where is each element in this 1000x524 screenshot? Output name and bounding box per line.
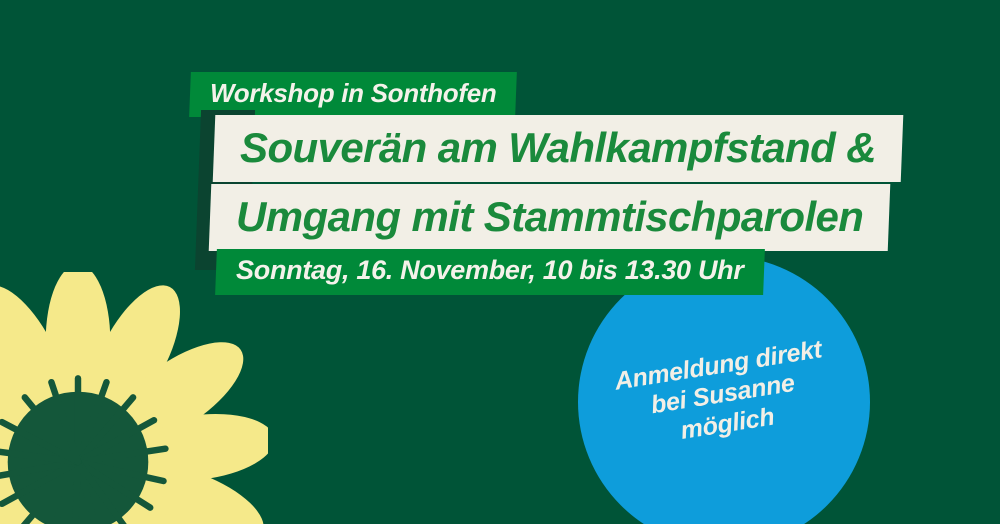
event-poster: Anmeldung direkt bei Susanne möglich Wor… bbox=[0, 0, 1000, 524]
headline-line-2: Umgang mit Stammtischparolen bbox=[209, 184, 891, 251]
sunflower-center bbox=[0, 378, 165, 524]
registration-callout-circle: Anmeldung direkt bei Susanne möglich bbox=[578, 256, 870, 524]
kicker-label: Workshop in Sonthofen bbox=[210, 78, 496, 109]
sunflower-logo bbox=[0, 272, 268, 524]
date-band: Sonntag, 16. November, 10 bis 13.30 Uhr bbox=[215, 249, 764, 295]
headline-line-2-label: Umgang mit Stammtischparolen bbox=[236, 194, 863, 239]
headline-line-1-label: Souverän am Wahlkampfstand & bbox=[240, 125, 876, 170]
sunflower-petals bbox=[0, 272, 268, 524]
date-label: Sonntag, 16. November, 10 bis 13.30 Uhr bbox=[236, 255, 744, 286]
headline-line-1: Souverän am Wahlkampfstand & bbox=[213, 115, 904, 182]
text-stack: Workshop in Sonthofen Souverän am Wahlka… bbox=[186, 72, 906, 295]
